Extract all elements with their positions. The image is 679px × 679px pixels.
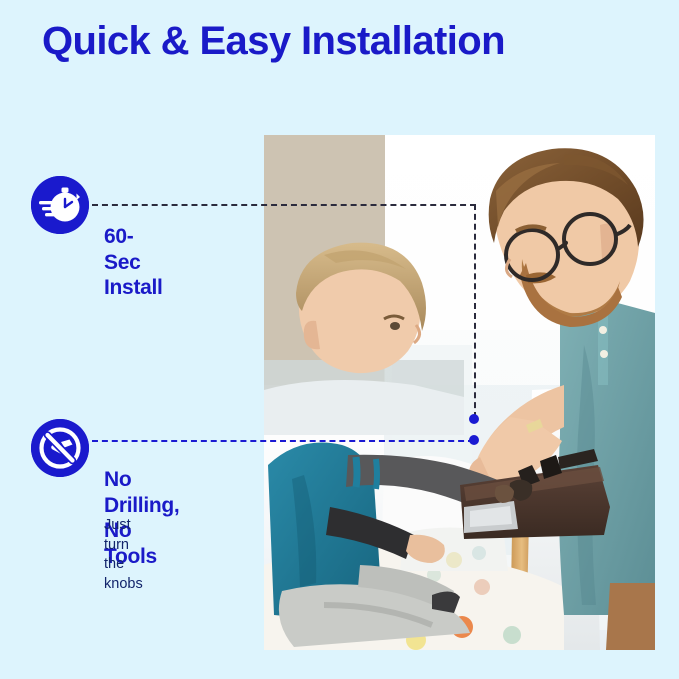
connector-line-60-sec-horizontal xyxy=(92,204,476,206)
feature-title-60-sec-install: 60-Sec Install xyxy=(104,224,163,301)
stopwatch-speed-icon xyxy=(31,176,89,234)
connector-dot-no-drilling xyxy=(469,435,479,445)
connector-dot-60-sec xyxy=(469,414,479,424)
installation-photo xyxy=(264,135,655,650)
product-feature-panel: Quick & Easy Installation xyxy=(0,0,679,679)
connector-line-60-sec-vertical xyxy=(474,204,476,418)
feature-subtitle-no-drilling-no-tools: Just turn the knobs xyxy=(104,516,143,594)
no-tools-hammer-icon xyxy=(31,419,89,477)
connector-line-no-drilling-horizontal xyxy=(92,440,474,442)
page-title: Quick & Easy Installation xyxy=(42,16,505,66)
